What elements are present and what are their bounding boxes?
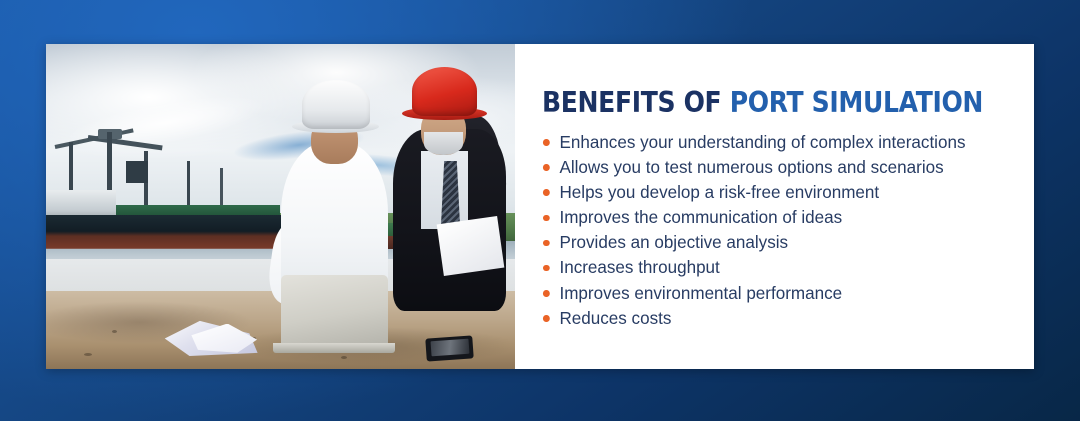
ground-speck — [84, 353, 92, 356]
promo-banner: BENEFITS OF PORT SIMULATION Enhances you… — [0, 0, 1080, 421]
list-item: Helps you develop a risk-free environmen… — [542, 181, 1028, 203]
ground-speck — [112, 330, 117, 333]
list-item: Improves environmental performance — [542, 282, 1028, 304]
content-card: BENEFITS OF PORT SIMULATION Enhances you… — [46, 44, 1034, 369]
list-item: Improves the communication of ideas — [542, 206, 1028, 228]
benefits-list: Enhances your understanding of complex i… — [542, 131, 1034, 329]
white-hard-hat-icon — [302, 80, 370, 129]
list-item: Enhances your understanding of complex i… — [542, 131, 1028, 153]
crane-hopper-icon — [126, 161, 148, 183]
list-item: Allows you to test numerous options and … — [542, 156, 1028, 178]
title-part-highlight: PORT SIMULATION — [730, 86, 983, 119]
list-item: Provides an objective analysis — [542, 231, 1028, 253]
held-document-icon — [437, 216, 505, 276]
tablet-screen — [430, 338, 468, 356]
laptop-base — [273, 343, 395, 353]
list-item: Increases throughput — [542, 256, 1028, 278]
benefits-panel: BENEFITS OF PORT SIMULATION Enhances you… — [515, 44, 1034, 369]
title-part-dark: BENEFITS OF — [542, 86, 730, 119]
red-hard-hat-icon — [412, 67, 478, 116]
list-item: Reduces costs — [542, 307, 1028, 329]
beard-icon — [424, 132, 464, 155]
laptop-icon — [281, 275, 389, 347]
port-engineers-photo — [46, 44, 515, 369]
page-title: BENEFITS OF PORT SIMULATION — [542, 89, 983, 118]
